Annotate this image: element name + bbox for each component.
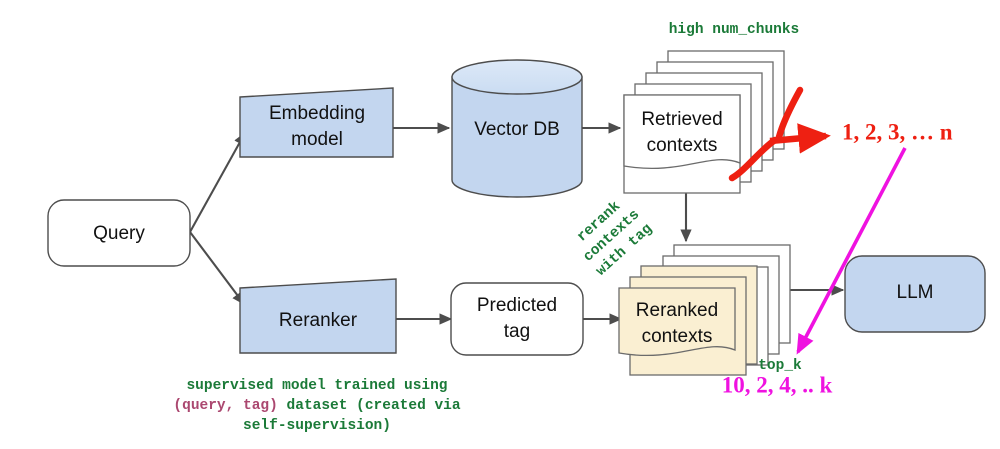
node-reranker[interactable]: Reranker [240, 279, 396, 353]
embedding-model-label-line1: Embedding [269, 103, 365, 124]
query-label: Query [93, 223, 145, 244]
node-vector-db[interactable]: Vector DB [452, 60, 582, 197]
predicted-tag-label-line2: tag [504, 321, 530, 342]
caption-dataset-created: dataset (created via [278, 398, 461, 414]
predicted-tag-label-line1: Predicted [477, 295, 557, 316]
reranked-contexts-label-line2: contexts [642, 326, 713, 347]
annotation-high-num-chunks: high num_chunks [669, 22, 800, 38]
connector-query-to-reranker [190, 232, 244, 304]
order-all-label: 1, 2, 3, … n [842, 119, 953, 144]
vector-db-label: Vector DB [474, 119, 560, 140]
connector-query-to-embedding [190, 133, 245, 232]
training-caption: supervised model trained using (query, t… [173, 378, 460, 434]
llm-label: LLM [897, 282, 934, 303]
order-topk-label: 10, 2, 4, .. k [722, 372, 833, 397]
node-predicted-tag[interactable]: Predicted tag [451, 283, 583, 355]
high-num-chunks-label: high num_chunks [669, 22, 800, 38]
node-query[interactable]: Query [48, 200, 190, 266]
node-retrieved-contexts[interactable]: Retrieved contexts [624, 51, 784, 193]
predicted-tag-box[interactable] [451, 283, 583, 355]
reranked-contexts-label-line1: Reranked [636, 300, 718, 321]
retrieved-sheet-front[interactable] [624, 95, 740, 168]
node-embedding-model[interactable]: Embedding model [240, 88, 393, 157]
node-reranked-contexts[interactable]: Reranked contexts [619, 245, 790, 375]
reranker-label: Reranker [279, 310, 358, 331]
caption-line3: self-supervision) [243, 418, 391, 434]
retrieved-contexts-label-line2: contexts [647, 135, 718, 156]
retrieved-contexts-label-line1: Retrieved [641, 109, 722, 130]
caption-line1: supervised model trained using [186, 378, 447, 394]
node-llm[interactable]: LLM [845, 256, 985, 332]
vector-db-top [452, 60, 582, 94]
caption-line2: (query, tag) dataset (created via [173, 398, 460, 414]
caption-query-tag: (query, tag) [173, 398, 277, 414]
embedding-model-label-line2: model [291, 129, 343, 150]
diagram-canvas: Query Embedding model Reranker Vector DB… [0, 0, 1000, 449]
